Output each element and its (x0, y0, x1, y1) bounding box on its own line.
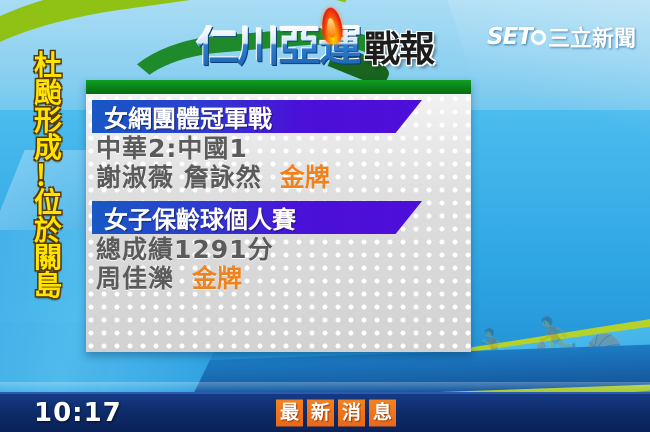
broadcast-screen: 🏃 ⛹ 🏀 ⛷ SET 三立新聞 仁川亞運 戰報 杜 颱 形 成 ！ 位 於 關… (0, 0, 650, 432)
breaking-news-char: 息 (369, 400, 396, 427)
breaking-news-label: 最 新 消 息 (276, 400, 396, 427)
bottom-ticker: 10:17 最 新 消 息 (0, 392, 650, 432)
section-header-1: 女網團體冠軍戰 (92, 100, 422, 133)
set-logo-text: SET (487, 24, 532, 50)
program-title-sub: 戰報 (364, 32, 434, 71)
panel-body: 女網團體冠軍戰 中華2:中國1 謝淑薇 詹詠然 金牌 女子保齡球個人賽 總成績1… (86, 94, 471, 352)
result-line: 總成績1291分 (96, 236, 471, 265)
result-line-text: 謝淑薇 詹詠然 (96, 164, 262, 193)
set-logo-ring-icon (531, 30, 546, 45)
medal-badge: 金牌 (192, 265, 242, 294)
vertical-headline-char: 位 (34, 189, 62, 216)
channel-name: 三立新聞 (548, 21, 636, 53)
vertical-headline: 杜 颱 形 成 ！ 位 於 關 島 (28, 52, 68, 299)
panel-top-band (86, 80, 471, 94)
program-title: 仁川亞運 戰報 (196, 26, 434, 71)
breaking-news-char: 新 (307, 400, 334, 427)
section-header-2-label: 女子保齡球個人賽 (92, 200, 296, 235)
section-1-lines: 中華2:中國1 謝淑薇 詹詠然 金牌 (86, 133, 471, 192)
vertical-headline-char: 颱 (34, 79, 62, 106)
section-header-1-label: 女網團體冠軍戰 (92, 99, 272, 134)
result-line-text: 周佳濼 (96, 265, 174, 294)
section-header-2: 女子保齡球個人賽 (92, 201, 422, 234)
ticker-shine (0, 382, 650, 392)
clock: 10:17 (34, 398, 122, 428)
result-line-text: 中華2:中國1 (96, 135, 248, 164)
results-panel: 女網團體冠軍戰 中華2:中國1 謝淑薇 詹詠然 金牌 女子保齡球個人賽 總成績1… (86, 80, 471, 352)
result-line: 周佳濼 金牌 (96, 265, 471, 294)
breaking-news-char: 最 (276, 400, 303, 427)
channel-logo: SET 三立新聞 (487, 22, 636, 52)
result-line: 謝淑薇 詹詠然 金牌 (96, 164, 471, 193)
section-2-lines: 總成績1291分 周佳濼 金牌 (86, 234, 471, 293)
vertical-headline-char: 於 (34, 217, 62, 244)
medal-badge: 金牌 (280, 164, 330, 193)
vertical-headline-char: 島 (34, 272, 62, 299)
result-line-text: 總成績1291分 (96, 236, 274, 265)
section-spacer (86, 192, 471, 197)
set-logo-icon: SET (487, 24, 545, 50)
result-line: 中華2:中國1 (96, 135, 471, 164)
vertical-headline-char: 關 (34, 244, 62, 271)
breaking-news-char: 消 (338, 400, 365, 427)
vertical-headline-char: 成 (34, 134, 62, 161)
